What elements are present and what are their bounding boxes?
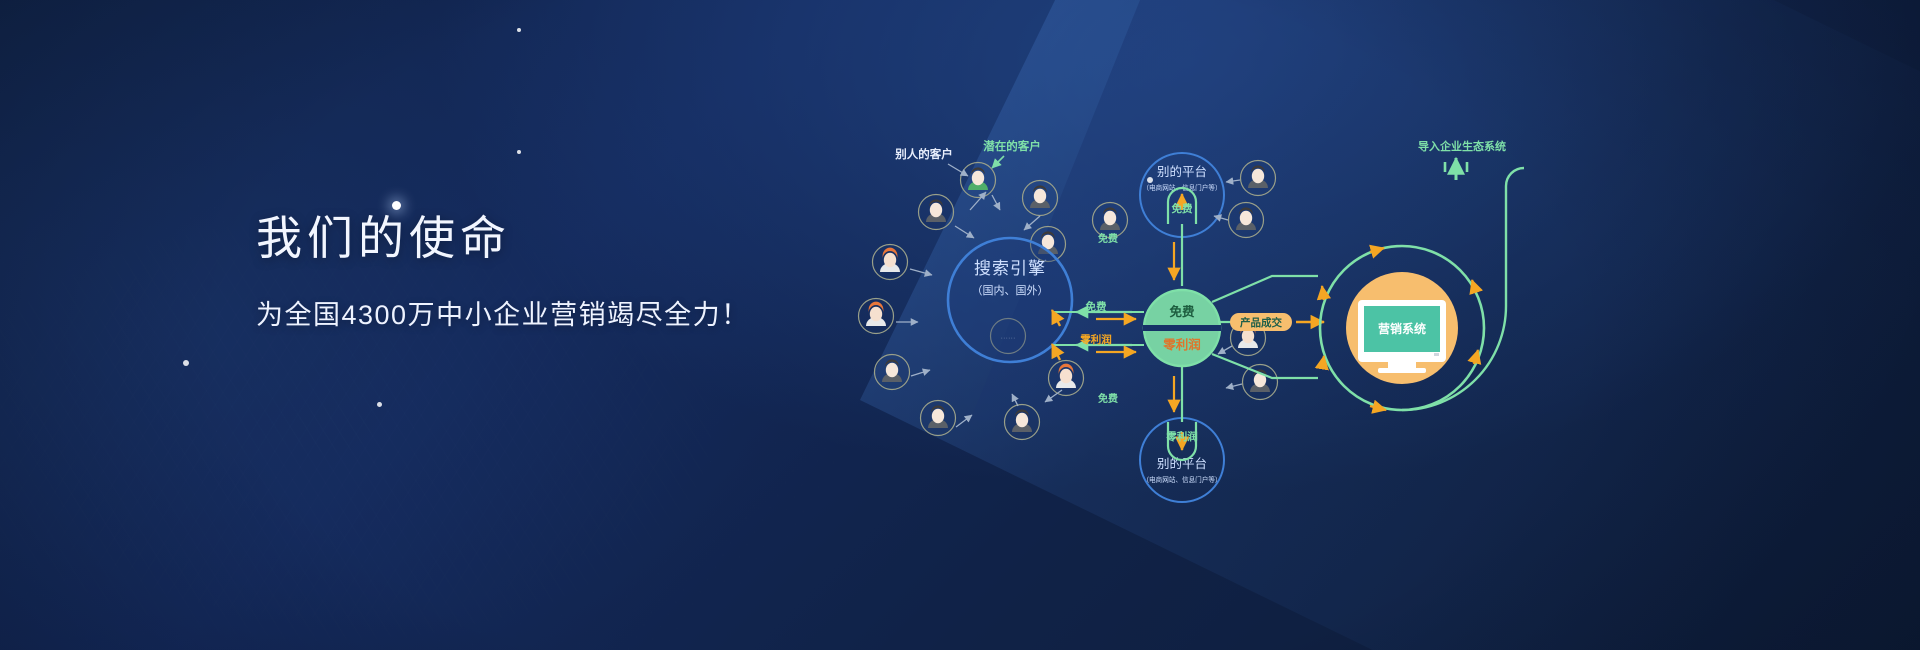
avatar [1005, 405, 1040, 440]
hero-banner: 我们的使命 为全国4300万中小企业营销竭尽全力！ [0, 0, 1920, 650]
decorative-dot [183, 360, 189, 366]
ecosystem-diagram: ······ 搜索引擎 （国内、国外） [900, 150, 1540, 520]
hub-node: 免费 零利润 [1143, 290, 1221, 366]
avatar [1023, 181, 1058, 216]
decorative-dot [517, 150, 521, 154]
platform-top-flow: 免费 [1172, 202, 1194, 215]
hero-copy: 我们的使命 为全国4300万中小企业营销竭尽全力！ [256, 215, 511, 261]
hub-top-label: 免费 [1169, 304, 1195, 319]
avatar [1243, 365, 1278, 400]
platform-bottom-subtitle: （电商网站、信息门户等） [1142, 475, 1221, 484]
search-engine-title: 搜索引擎 [974, 259, 1046, 278]
avatar [859, 299, 894, 334]
decorative-dot [392, 201, 401, 210]
import-ecosystem-label: 导入企业生态系统 [1418, 139, 1506, 153]
top-labels: 别人的客户 潜在的客户 [894, 139, 1041, 176]
page-title: 我们的使命 [256, 215, 511, 261]
potential-customers-label: 潜在的客户 [983, 139, 1041, 153]
marketing-system-node: 营销系统 [1320, 246, 1484, 410]
flow-label-free-upper: 免费 [1086, 300, 1108, 313]
search-engine-subtitle: （国内、国外） [972, 283, 1049, 297]
avatar [1229, 203, 1264, 238]
flow-label-free-lower: 免费 [1098, 392, 1118, 405]
avatar [1093, 203, 1128, 238]
avatar [921, 401, 956, 436]
avatar [919, 195, 954, 230]
flow-label-zero-profit: 零利润 [1079, 333, 1112, 346]
marketing-system-label: 营销系统 [1378, 321, 1426, 336]
deal-badge: 产品成交 [1218, 313, 1324, 331]
others-customers-label: 别人的客户 [894, 147, 953, 161]
deal-badge-label: 产品成交 [1240, 316, 1282, 329]
platform-bottom-flow: 零利润 [1165, 430, 1198, 443]
platform-bottom-title: 别的平台 [1157, 456, 1207, 471]
platform-top-node: 别的平台 （电商网站、信息门户等） 免费 [1140, 153, 1224, 286]
diagram-canvas: ······ 搜索引擎 （国内、国外） [900, 150, 1540, 520]
avatar [1241, 161, 1276, 196]
avatar [873, 245, 908, 280]
flow-label-free-right: 免费 [1098, 232, 1118, 245]
decorative-dot [517, 28, 521, 32]
avatar [875, 355, 910, 390]
hub-bottom-label: 零利润 [1162, 337, 1201, 352]
avatar [961, 163, 996, 198]
search-engine-node: 搜索引擎 （国内、国外） [948, 238, 1072, 362]
avatar [1049, 361, 1084, 396]
decorative-dot [377, 402, 382, 407]
page-subtitle: 为全国4300万中小企业营销竭尽全力！ [256, 293, 750, 332]
platform-top-title: 别的平台 [1157, 164, 1207, 179]
platform-bottom-node: 别的平台 （电商网站、信息门户等） 零利润 [1140, 366, 1224, 502]
